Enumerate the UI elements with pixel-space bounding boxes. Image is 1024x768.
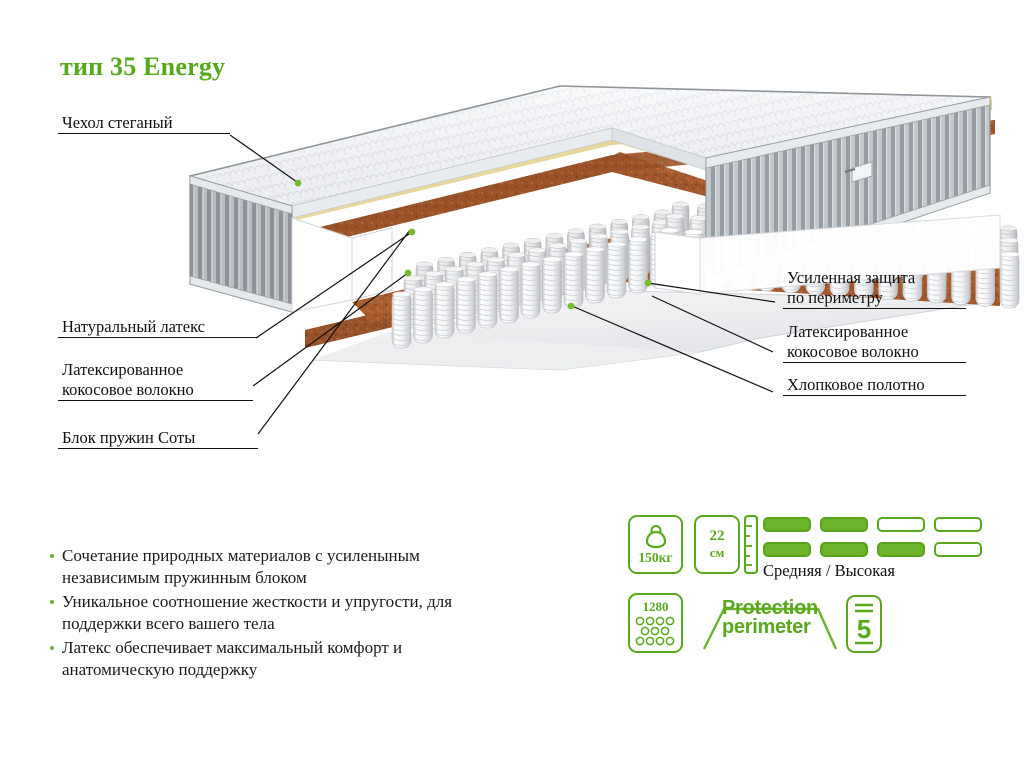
warranty-badge-icon: 5 (852, 600, 876, 648)
callout-rule (783, 362, 966, 363)
callout-rule (58, 400, 253, 401)
list-item: Уникальное соотношение жесткости и упруг… (48, 591, 568, 636)
firmness-bar-bottom-4 (934, 542, 982, 557)
callout-quilted-cover-label: Чехол стеганый (58, 113, 230, 133)
callout-cotton-fabric-label: Хлопковое полотно (783, 375, 966, 395)
firmness-bar-top-4 (934, 517, 982, 532)
callout-spring-block: Блок пружин Соты (58, 428, 258, 449)
spring-count-icon: 1280 (628, 593, 683, 653)
callout-reinforced-perimeter-line1: Усиленная защита (783, 268, 966, 288)
callout-rule (58, 133, 230, 134)
firmness-indicator: Средняя / Высокая (763, 517, 985, 577)
callout-cotton-fabric: Хлопковое полотно (783, 375, 966, 396)
bullet-line: Уникальное соотношение жесткости и упруг… (62, 592, 452, 611)
firmness-bar-bottom-3 (877, 542, 925, 557)
firmness-bar-bottom-1 (763, 542, 811, 557)
height-value: 22 (710, 528, 725, 545)
callout-coconut-left-line2: кокосовое волокно (58, 380, 253, 400)
list-item: Латекс обеспечивает максимальный комфорт… (48, 637, 568, 682)
callout-reinforced-perimeter: Усиленная защита по периметру (783, 268, 966, 309)
ruler-icon (744, 515, 758, 574)
spring-grid-icon (634, 616, 678, 648)
kettlebell-icon (641, 523, 671, 549)
firmness-bar-top-3 (877, 517, 925, 532)
svg-text:5: 5 (857, 614, 871, 644)
callout-coconut-right: Латексированное кокосовое волокно (783, 322, 966, 363)
protection-line-2: perimeter (722, 617, 810, 637)
max-weight-icon: 150кг (628, 515, 683, 574)
feature-bullet-list: Сочетание природных материалов с усилены… (48, 545, 568, 683)
bullet-line: поддержки всего вашего тела (62, 614, 275, 633)
protection-perimeter-badge: Protection perimeter (700, 593, 840, 653)
callout-coconut-right-line2: кокосовое волокно (783, 342, 966, 362)
callout-coconut-left: Латексированное кокосовое волокно (58, 360, 253, 401)
callout-natural-latex: Натуральный латекс (58, 317, 258, 338)
callout-coconut-right-line1: Латексированное (783, 322, 966, 342)
protection-line-1: Protection (722, 598, 818, 618)
callout-reinforced-perimeter-line2: по периметру (783, 288, 966, 308)
firmness-label: Средняя / Высокая (763, 561, 895, 581)
warranty-years-icon: 5 (846, 595, 882, 653)
bullet-line: независимым пружинным блоком (62, 568, 307, 587)
spec-icon-row: 150кг 22 см Средняя / Высокая (628, 515, 988, 655)
callout-spring-block-label: Блок пружин Соты (58, 428, 258, 448)
callout-rule (58, 337, 258, 338)
firmness-bar-bottom-2 (820, 542, 868, 557)
bullet-line: Латекс обеспечивает максимальный комфорт… (62, 638, 402, 657)
callout-natural-latex-label: Натуральный латекс (58, 317, 258, 337)
callout-rule (783, 395, 966, 396)
bullet-line: анатомическую поддержку (62, 660, 257, 679)
callout-coconut-left-line1: Латексированное (58, 360, 253, 380)
bullet-line: Сочетание природных материалов с усилены… (62, 546, 420, 565)
max-weight-value: 150кг (638, 550, 672, 566)
callout-rule (58, 448, 258, 449)
firmness-bar-top-2 (820, 517, 868, 532)
callout-quilted-cover: Чехол стеганый (58, 113, 230, 134)
mattress-height-icon: 22 см (694, 515, 740, 574)
diagram-canvas: тип 35 Energy (0, 0, 1024, 768)
firmness-bar-top-1 (763, 517, 811, 532)
spring-count-value: 1280 (643, 599, 669, 615)
list-item: Сочетание природных материалов с усилены… (48, 545, 568, 590)
callout-rule (783, 308, 966, 309)
height-unit: см (710, 545, 725, 561)
